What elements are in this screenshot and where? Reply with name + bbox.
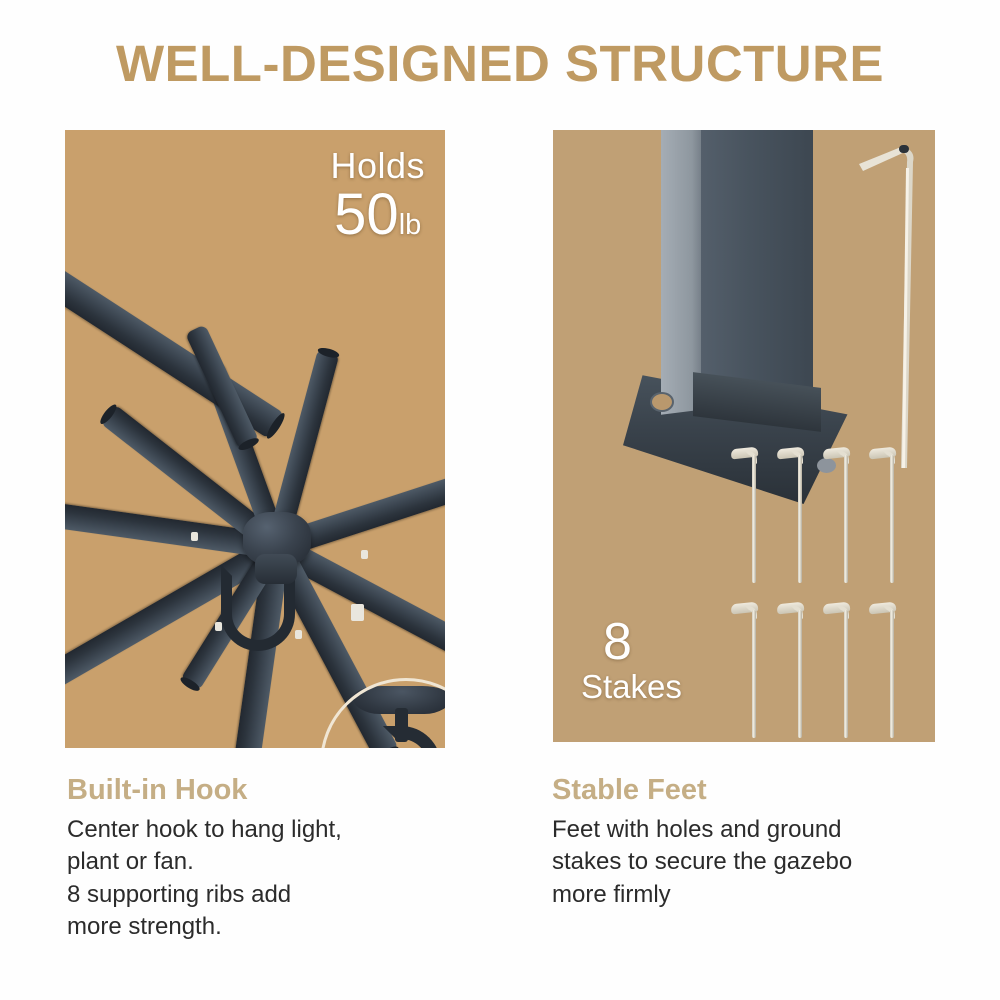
stakes-count-badge: 8 Stakes bbox=[581, 616, 682, 706]
ground-stake bbox=[731, 603, 761, 738]
caption-built-in-hook: Built-in Hook Center hook to hang light,… bbox=[67, 775, 487, 943]
holds-value: 50lb bbox=[330, 184, 425, 247]
roof-brace bbox=[65, 250, 285, 439]
infographic-page: WELL-DESIGNED STRUCTURE bbox=[0, 0, 1000, 1000]
stakes-count: 8 bbox=[603, 616, 682, 668]
ground-stake bbox=[823, 448, 853, 583]
rib-bolt bbox=[191, 532, 198, 541]
caption-body: Center hook to hang light, plant or fan.… bbox=[67, 814, 487, 944]
rib-bolt bbox=[215, 622, 222, 631]
ground-stake bbox=[823, 603, 853, 738]
stakes-label: Stakes bbox=[581, 668, 682, 706]
holds-unit: lb bbox=[399, 209, 422, 241]
holds-capacity-badge: Holds 50lb bbox=[330, 148, 425, 247]
ground-stake bbox=[777, 448, 807, 583]
ground-stake bbox=[777, 603, 807, 738]
inserted-ground-stake bbox=[849, 138, 929, 468]
rib-bracket bbox=[351, 604, 364, 621]
caption-title: Stable Feet bbox=[552, 775, 972, 807]
built-in-hook-photo: Holds 50lb bbox=[65, 130, 445, 748]
rib-bolt bbox=[361, 550, 368, 559]
roof-hub-collar bbox=[255, 554, 297, 584]
ground-stake bbox=[731, 448, 761, 583]
caption-stable-feet: Stable Feet Feet with holes and ground s… bbox=[552, 775, 972, 911]
caption-title: Built-in Hook bbox=[67, 775, 487, 807]
page-title: WELL-DESIGNED STRUCTURE bbox=[0, 34, 1000, 93]
ground-stake bbox=[869, 448, 899, 583]
ground-stake bbox=[869, 603, 899, 738]
base-plate-hole bbox=[650, 392, 674, 412]
holds-number: 50 bbox=[334, 182, 399, 247]
holds-label: Holds bbox=[330, 148, 425, 184]
caption-body: Feet with holes and ground stakes to sec… bbox=[552, 814, 972, 911]
rib-bolt bbox=[295, 630, 302, 639]
stake-set bbox=[731, 448, 921, 738]
stable-feet-photo: 8 Stakes bbox=[553, 130, 935, 742]
